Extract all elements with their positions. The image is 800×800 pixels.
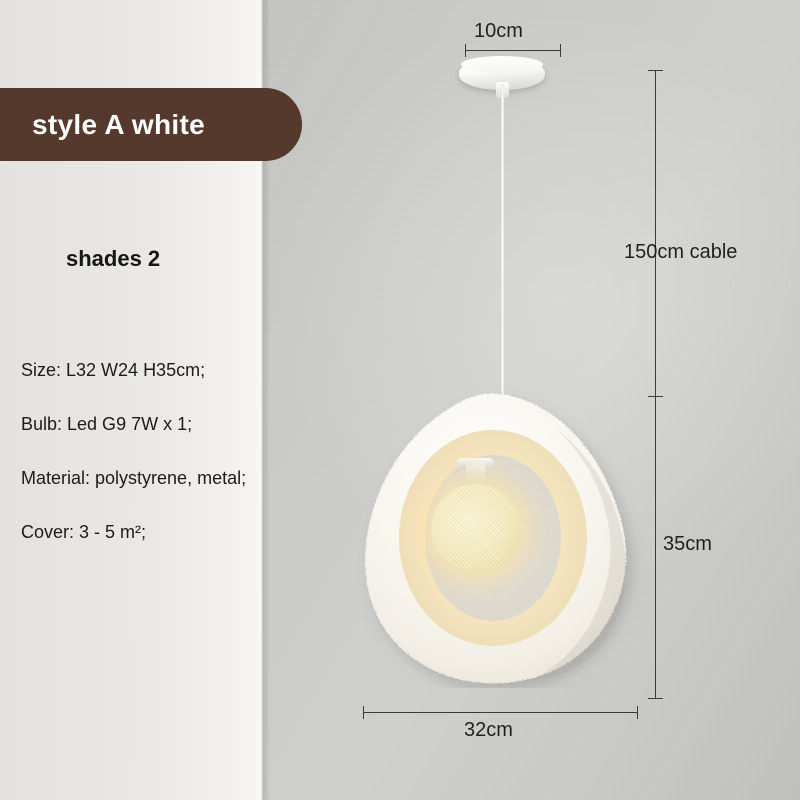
cable-dimension-label: 150cm cable [624, 241, 737, 264]
canopy-dimension-tick-left [465, 44, 466, 57]
shade-width-tick-left [363, 706, 364, 719]
ceiling-canopy-top [461, 56, 543, 73]
canopy-dimension-tick-right [560, 44, 561, 57]
shade-width-dimension-line [363, 712, 637, 713]
vertical-dimension-line [655, 70, 656, 698]
style-badge: style A white [0, 88, 302, 161]
size-spec: Size: L32 W24 H35cm; [21, 360, 321, 381]
vertical-dimension-tick-bottom [648, 698, 663, 699]
vertical-dimension-tick-top [648, 70, 663, 71]
style-badge-label: style A white [32, 109, 205, 141]
material-spec: Material: polystyrene, metal; [21, 468, 321, 489]
product-image: style A white shades 2 Size: L32 W24 H35… [0, 0, 800, 800]
bulb-spec: Bulb: Led G9 7W x 1; [21, 414, 321, 435]
cover-spec: Cover: 3 - 5 m²; [21, 522, 321, 543]
product-title: shades 2 [66, 246, 160, 272]
canopy-dimension-label: 10cm [474, 20, 523, 43]
bulb-texture [431, 484, 521, 574]
shade-width-label: 32cm [464, 719, 513, 742]
shade-width-tick-right [637, 706, 638, 719]
spec-list: Size: L32 W24 H35cm; Bulb: Led G9 7W x 1… [21, 360, 321, 576]
shade-height-label: 35cm [663, 533, 712, 556]
vertical-dimension-tick-middle [648, 396, 663, 397]
light-bulb [431, 484, 521, 574]
suspension-cable [501, 84, 504, 400]
canopy-dimension-line [465, 50, 561, 51]
